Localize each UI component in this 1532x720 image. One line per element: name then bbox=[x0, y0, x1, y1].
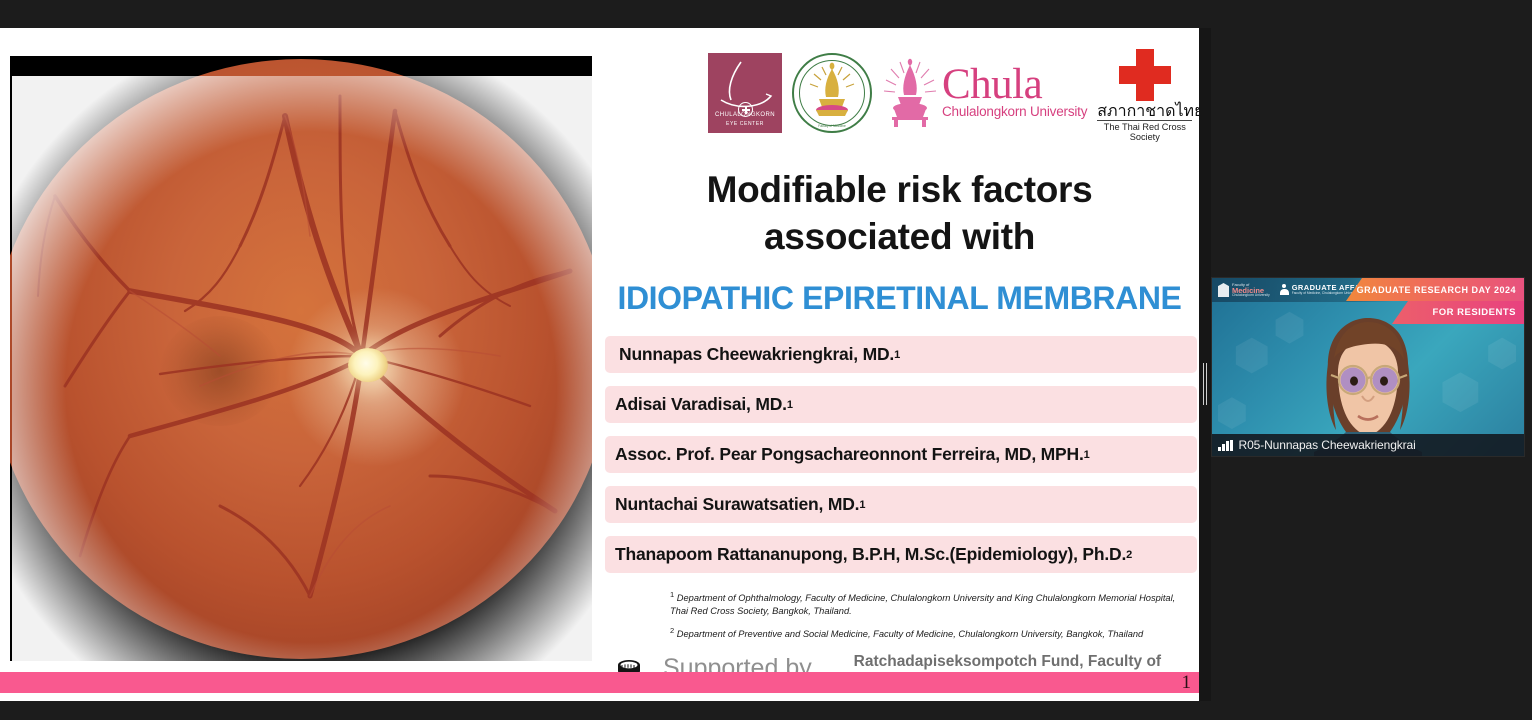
affiliation-text: Department of Ophthalmology, Faculty of … bbox=[670, 593, 1175, 616]
title-highlight: IDIOPATHIC EPIRETINAL MEMBRANE bbox=[600, 280, 1199, 317]
panel-divider[interactable] bbox=[1199, 28, 1211, 701]
participant-name-bar: R05-Nunnapas Cheewakriengkrai bbox=[1212, 434, 1524, 456]
thai-red-cross-thai-text: สภากาชาดไทย bbox=[1097, 101, 1192, 121]
slide-footer-bar bbox=[0, 672, 1199, 693]
svg-text:Faculty of Medicine: Faculty of Medicine bbox=[818, 124, 846, 128]
author-affiliation-marker: 1 bbox=[859, 499, 865, 511]
chula-crest-icon bbox=[882, 55, 938, 129]
list-item: Thanapoom Rattananupong, B.P.H, M.Sc.(Ep… bbox=[605, 536, 1197, 573]
chula-wordmark-sub: Chulalongkorn University bbox=[942, 104, 1087, 119]
divider-grip-handle[interactable] bbox=[1203, 363, 1208, 405]
eye-center-line2: EYE CENTER bbox=[708, 121, 782, 127]
affiliation-notes: 1 Department of Ophthalmology, Faculty o… bbox=[670, 590, 1190, 649]
faculty-of-medicine-logo: Faculty of Medicine bbox=[792, 53, 872, 133]
chula-wordmark: Chula Chulalongkorn University bbox=[942, 65, 1087, 120]
participant-name: R05-Nunnapas Cheewakriengkrai bbox=[1239, 438, 1416, 452]
medicine-logo-sub: Chulalongkorn University bbox=[1232, 294, 1270, 297]
affiliation-text: Department of Preventive and Social Medi… bbox=[677, 629, 1143, 639]
affiliation-marker: 1 bbox=[670, 590, 674, 599]
chula-university-logo: Chula Chulalongkorn University bbox=[882, 51, 1087, 133]
author-affiliation-marker: 1 bbox=[894, 349, 900, 361]
event-banner-line2: FOR RESIDENTS bbox=[1432, 307, 1516, 318]
phra-kiao-crest-icon: Faculty of Medicine bbox=[792, 53, 872, 133]
building-icon bbox=[1218, 283, 1229, 297]
affiliation-1: 1 Department of Ophthalmology, Faculty o… bbox=[670, 590, 1190, 618]
person-icon bbox=[1280, 284, 1289, 295]
event-banner-top: GRADUATE RESEARCH DAY 2024 bbox=[1346, 278, 1524, 301]
red-cross-icon bbox=[1119, 49, 1171, 101]
author-affiliation-marker: 1 bbox=[1084, 449, 1090, 461]
list-item: Nuntachai Surawatsatien, MD.1 bbox=[605, 486, 1197, 523]
event-banner: GRADUATE RESEARCH DAY 2024 FOR RESIDENTS bbox=[1346, 278, 1524, 324]
thai-red-cross-english-text: The Thai Red Cross Society bbox=[1097, 121, 1192, 142]
affiliation-2: 2 Department of Preventive and Social Me… bbox=[670, 626, 1190, 641]
author-name: Nunnapas Cheewakriengkrai, MD. bbox=[619, 344, 894, 365]
affiliation-marker: 2 bbox=[670, 626, 674, 635]
list-item: Nunnapas Cheewakriengkrai, MD.1 bbox=[605, 336, 1197, 373]
author-name: Adisai Varadisai, MD. bbox=[615, 394, 787, 415]
participant-video-tile[interactable]: Faculty of Medicine Chulalongkorn Univer… bbox=[1211, 277, 1525, 457]
chulalongkorn-eye-center-logo: CHULALONGKORN EYE CENTER bbox=[708, 53, 782, 133]
optic-disc bbox=[348, 348, 388, 382]
title-line-1: Modifiable risk factors bbox=[600, 166, 1199, 213]
chula-wordmark-main: Chula bbox=[942, 65, 1087, 105]
author-list: Nunnapas Cheewakriengkrai, MD.1 Adisai V… bbox=[605, 336, 1197, 586]
fundus-photograph bbox=[10, 56, 592, 661]
list-item: Adisai Varadisai, MD.1 bbox=[605, 386, 1197, 423]
page-title: Modifiable risk factors associated with bbox=[600, 166, 1199, 261]
slide-number: 1 bbox=[1182, 672, 1192, 693]
list-item: Assoc. Prof. Pear Pongsachareonnont Ferr… bbox=[605, 436, 1197, 473]
eye-center-line1: CHULALONGKORN bbox=[708, 112, 782, 118]
event-banner-bottom: FOR RESIDENTS bbox=[1392, 301, 1524, 324]
retinal-vessels bbox=[10, 56, 592, 661]
audio-level-icon bbox=[1218, 440, 1233, 451]
medicine-logo: Faculty of Medicine Chulalongkorn Univer… bbox=[1218, 283, 1270, 298]
presentation-slide[interactable]: None of the authors have any conflicts o… bbox=[0, 28, 1199, 701]
title-line-2: associated with bbox=[600, 213, 1199, 260]
author-name: Assoc. Prof. Pear Pongsachareonnont Ferr… bbox=[615, 444, 1084, 465]
logo-row: CHULALONGKORN EYE CENTER bbox=[708, 40, 1199, 133]
author-name: Thanapoom Rattananupong, B.P.H, M.Sc.(Ep… bbox=[615, 544, 1126, 565]
author-affiliation-marker: 2 bbox=[1126, 549, 1132, 561]
slide-content-column: CHULALONGKORN EYE CENTER bbox=[600, 28, 1199, 701]
author-name: Nuntachai Surawatsatien, MD. bbox=[615, 494, 859, 515]
screen: None of the authors have any conflicts o… bbox=[0, 0, 1532, 720]
event-banner-line1: GRADUATE RESEARCH DAY 2024 bbox=[1357, 285, 1516, 295]
thai-red-cross-logo: สภากาชาดไทย The Thai Red Cross Society bbox=[1097, 49, 1192, 133]
author-affiliation-marker: 1 bbox=[787, 399, 793, 411]
